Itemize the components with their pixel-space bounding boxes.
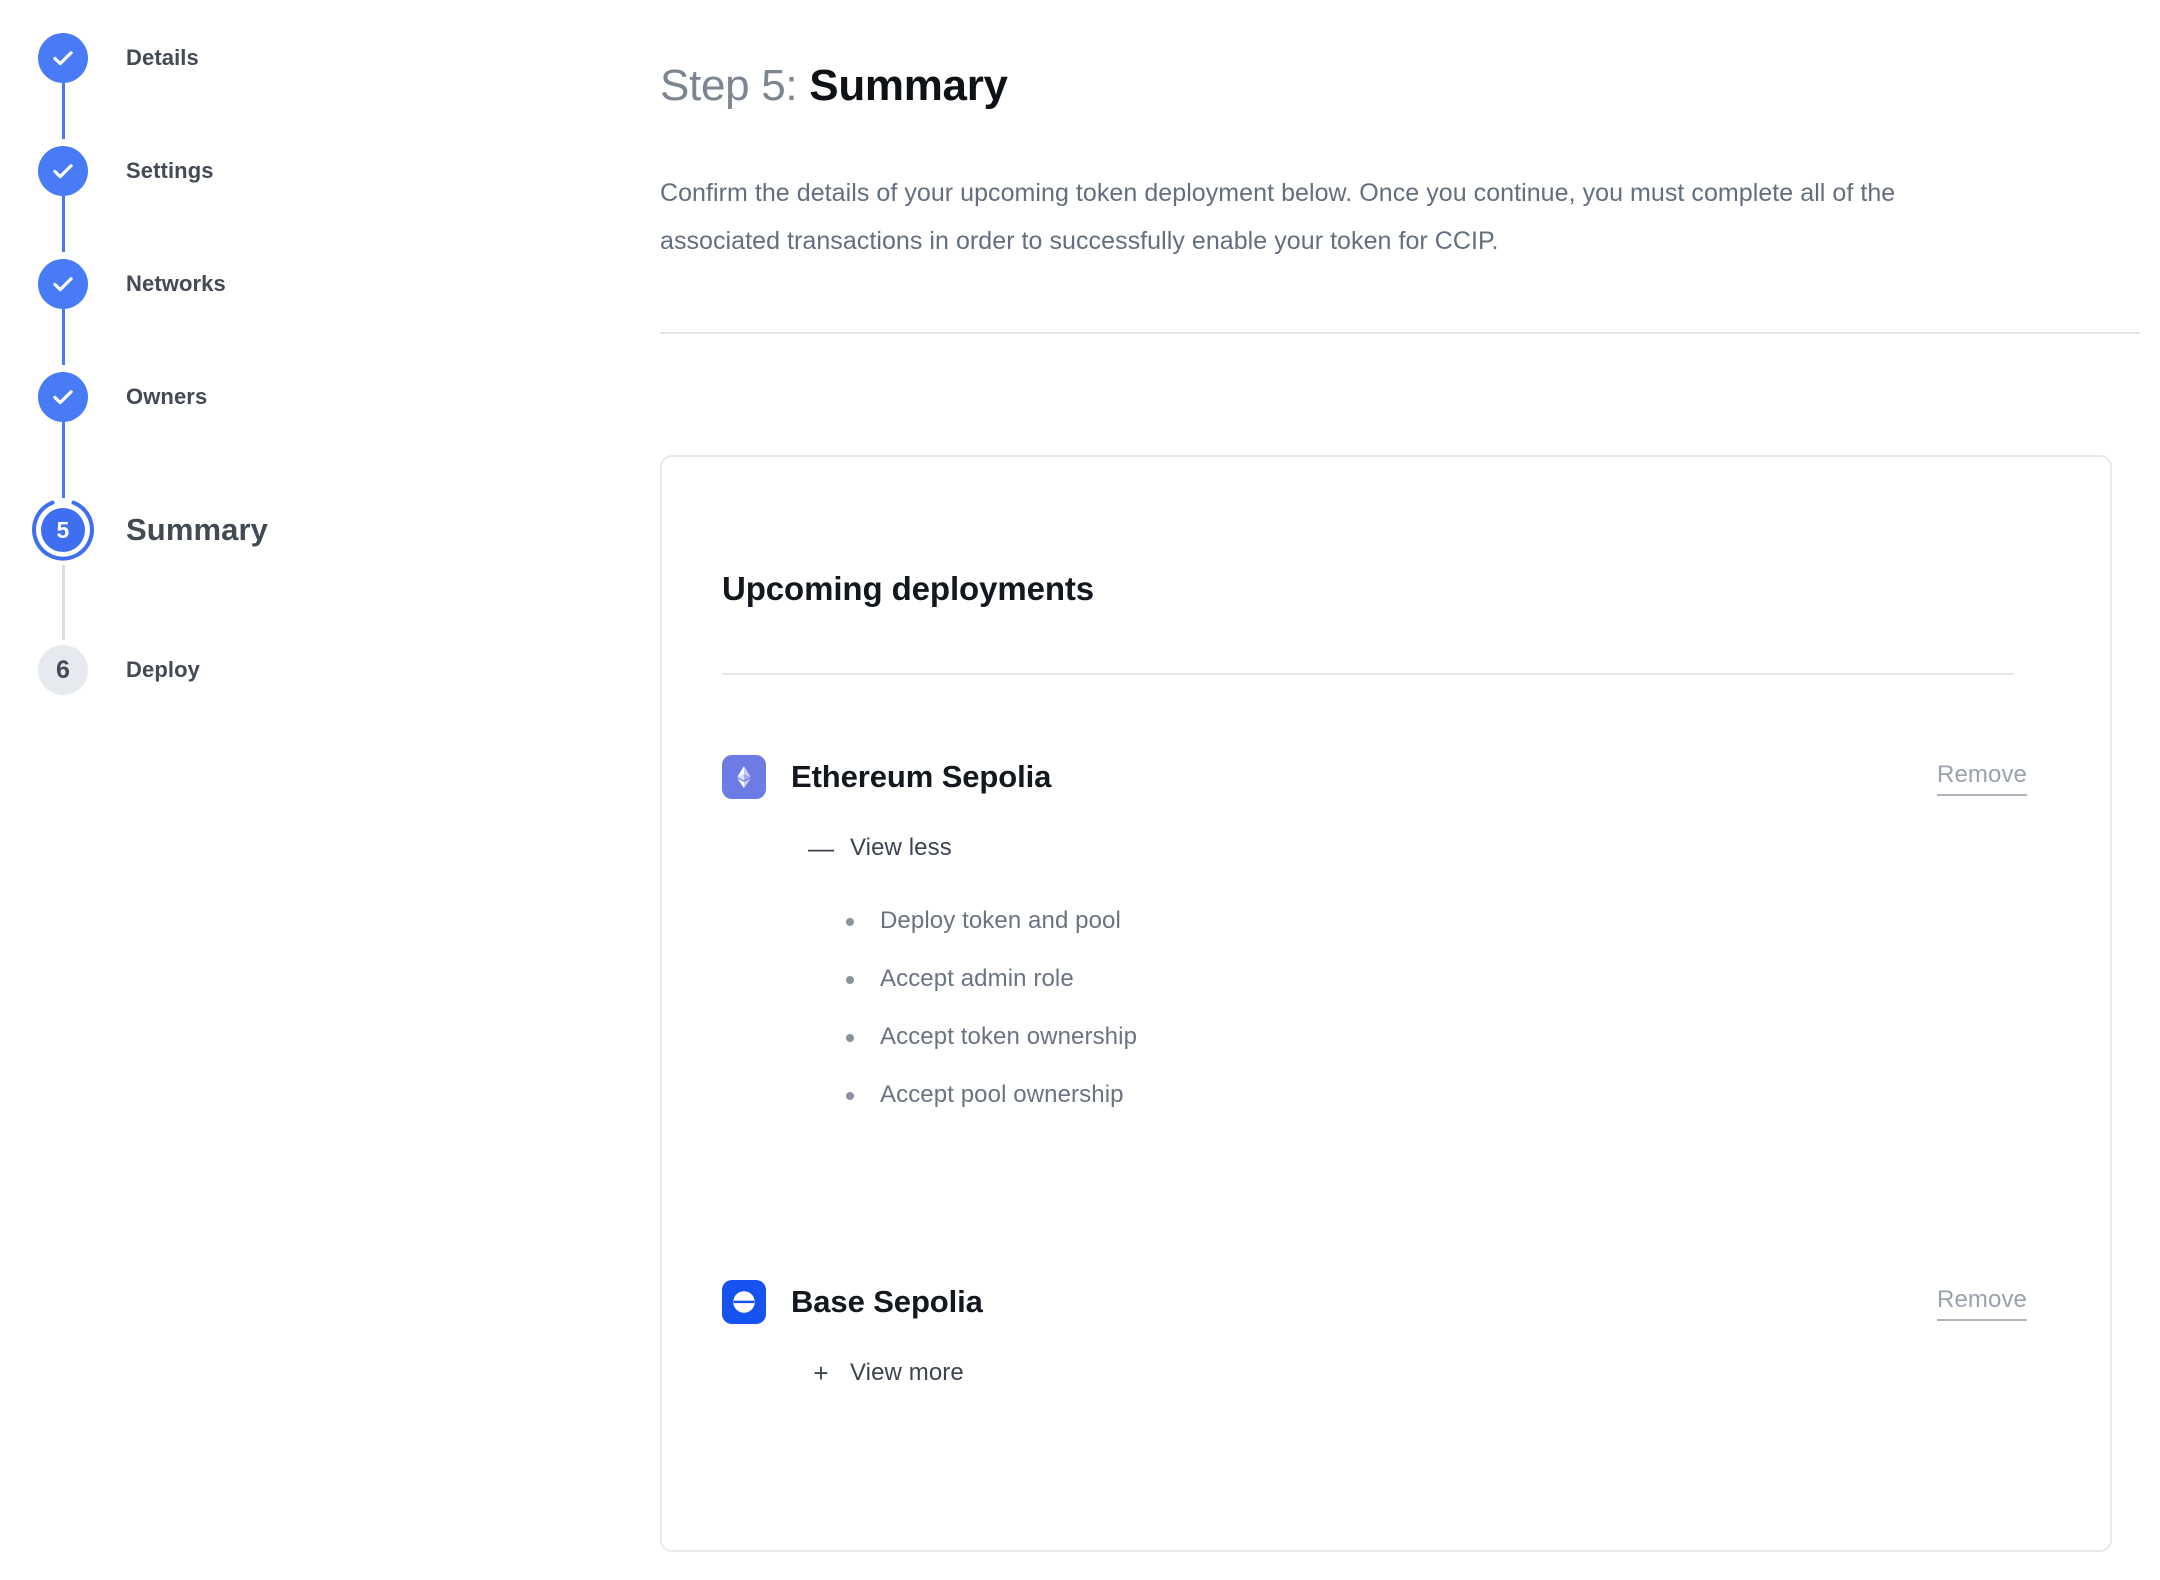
sidebar-item-details[interactable]: Details <box>0 28 199 88</box>
sidebar-item-label: Details <box>126 45 199 71</box>
card-divider <box>722 673 2014 675</box>
deployment-task-list: Deploy token and pool Accept admin role … <box>722 892 2027 1124</box>
network-header: Base Sepolia Remove <box>722 1277 2027 1327</box>
network-name: Base Sepolia <box>791 1284 983 1320</box>
check-icon <box>50 45 76 71</box>
sidebar-item-deploy[interactable]: 6 Deploy <box>0 640 200 700</box>
card-title: Upcoming deployments <box>722 570 1094 608</box>
sidebar-item-label: Settings <box>126 158 214 184</box>
stepper-connector-3 <box>62 309 65 365</box>
toggle-label: View more <box>850 1359 964 1387</box>
step-circle-networks <box>38 259 88 309</box>
remove-network-link[interactable]: Remove <box>1937 761 2027 796</box>
base-icon <box>722 1280 766 1324</box>
step-circle-owners <box>38 372 88 422</box>
sidebar-item-summary[interactable]: 5 Summary <box>0 500 268 560</box>
toggle-label: View less <box>850 834 952 862</box>
minus-icon: — <box>808 835 834 861</box>
check-icon <box>50 384 76 410</box>
check-icon <box>50 158 76 184</box>
page-description: Confirm the details of your upcoming tok… <box>660 169 1935 265</box>
stepper-connector-2 <box>62 196 65 252</box>
step-circle-settings <box>38 146 88 196</box>
stepper-connector-5 <box>62 565 65 640</box>
list-item: Accept admin role <box>846 950 2027 1008</box>
network-block-ethereum-sepolia: Ethereum Sepolia Remove — View less Depl… <box>722 752 2027 1124</box>
token-deployment-wizard: Details Settings Netwo <box>0 0 2160 1580</box>
upcoming-deployments-card: Upcoming deployments <box>660 455 2112 1552</box>
step-circle-summary: 5 <box>41 508 85 552</box>
network-header: Ethereum Sepolia Remove <box>722 752 2027 802</box>
stepper-connector-1 <box>62 83 65 139</box>
network-block-base-sepolia: Base Sepolia Remove + View more <box>722 1277 2027 1387</box>
step-circle-deploy: 6 <box>38 645 88 695</box>
sidebar-item-label: Summary <box>126 512 268 548</box>
page-title-text: Summary <box>809 61 1007 110</box>
step-marker-networks <box>0 254 126 314</box>
base-glyph <box>729 1287 759 1317</box>
wizard-stepper: Details Settings Netwo <box>0 0 660 1580</box>
remove-network-link[interactable]: Remove <box>1937 1286 2027 1321</box>
view-more-toggle[interactable]: + View more <box>808 1359 964 1387</box>
step-circle-details <box>38 33 88 83</box>
header-divider <box>660 332 2140 334</box>
main-content: Step 5: Summary Confirm the details of y… <box>660 0 2160 1580</box>
stepper-connector-4 <box>62 422 65 498</box>
step-marker-details <box>0 28 126 88</box>
sidebar-item-owners[interactable]: Owners <box>0 367 207 427</box>
network-name: Ethereum Sepolia <box>791 759 1051 795</box>
list-item: Deploy token and pool <box>846 892 2027 950</box>
sidebar-item-label: Deploy <box>126 657 200 683</box>
ethereum-icon <box>722 755 766 799</box>
step-number: 6 <box>56 658 70 683</box>
step-marker-owners <box>0 367 126 427</box>
step-marker-summary: 5 <box>0 500 126 560</box>
ethereum-glyph <box>731 764 757 790</box>
step-prefix: Step 5: <box>660 61 797 110</box>
list-item: Accept token ownership <box>846 1008 2027 1066</box>
sidebar-item-networks[interactable]: Networks <box>0 254 226 314</box>
step-marker-settings <box>0 141 126 201</box>
plus-icon: + <box>808 1360 834 1386</box>
view-less-toggle[interactable]: — View less <box>808 834 952 862</box>
step-marker-deploy: 6 <box>0 640 126 700</box>
sidebar-item-label: Owners <box>126 384 207 410</box>
list-item: Accept pool ownership <box>846 1066 2027 1124</box>
sidebar-item-settings[interactable]: Settings <box>0 141 214 201</box>
step-number: 5 <box>57 519 70 542</box>
page-title: Step 5: Summary <box>660 61 1008 112</box>
sidebar-item-label: Networks <box>126 271 226 297</box>
check-icon <box>50 271 76 297</box>
